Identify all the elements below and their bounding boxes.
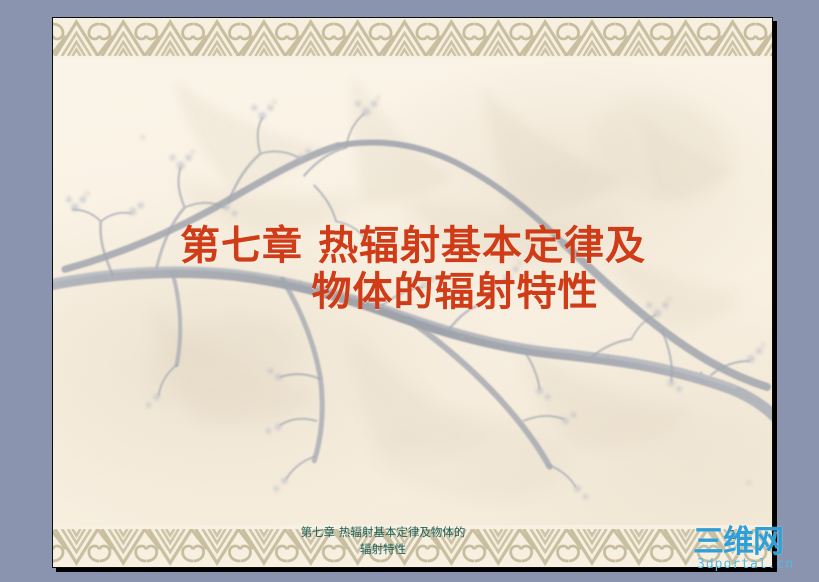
top-decorative-border [53,18,772,60]
slide-footer-line-2: 辐射特性 [173,541,593,558]
slide-number: 1 [721,528,745,542]
screenshot-stage: 第七章 热辐射基本定律及 物体的辐射特性 第七章 热辐射基本定律及物体的 辐射特… [0,0,819,582]
slide-title-line-2: 物体的辐射特性 [113,269,713,315]
presentation-slide[interactable]: 第七章 热辐射基本定律及 物体的辐射特性 第七章 热辐射基本定律及物体的 辐射特… [52,17,773,568]
slide-footer-line-1: 第七章 热辐射基本定律及物体的 [173,524,593,541]
slide-title-line-1: 第七章 热辐射基本定律及 [113,223,713,269]
slide-title: 第七章 热辐射基本定律及 物体的辐射特性 [113,223,713,315]
slide-footer: 第七章 热辐射基本定律及物体的 辐射特性 [173,524,593,558]
